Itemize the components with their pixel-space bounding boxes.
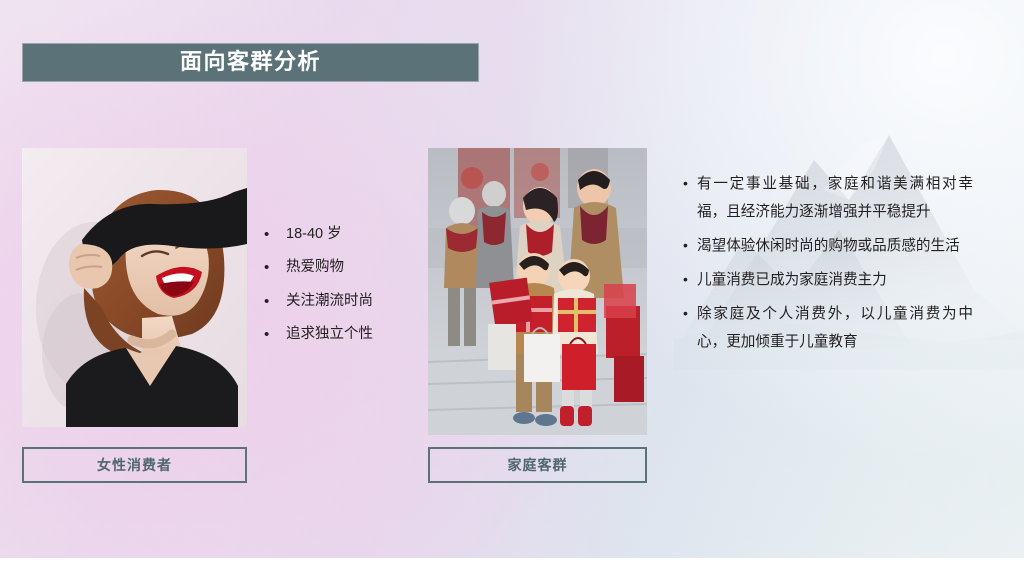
bullet-list-family-group: • 有一定事业基础，家庭和谐美满相对幸福，且经济能力逐渐增强并平稳提升 • 渴望… bbox=[683, 170, 973, 362]
page-title-bar: 面向客群分析 bbox=[22, 43, 479, 82]
list-item-text: 热爱购物 bbox=[286, 258, 344, 278]
list-item-text: 有一定事业基础，家庭和谐美满相对幸福，且经济能力逐渐增强并平稳提升 bbox=[697, 170, 973, 226]
bullet-dot-icon: • bbox=[264, 225, 286, 245]
bullet-dot-icon: • bbox=[683, 266, 697, 293]
page-title: 面向客群分析 bbox=[180, 51, 321, 74]
bullet-dot-icon: • bbox=[264, 325, 286, 345]
list-item: • 除家庭及个人消费外，以儿童消费为中心，更加倾重于儿童教育 bbox=[683, 300, 973, 356]
photo-female-consumer bbox=[22, 148, 247, 427]
caption-box-female-consumer: 女性消费者 bbox=[22, 447, 247, 483]
list-item-text: 追求独立个性 bbox=[286, 325, 373, 345]
list-item: • 有一定事业基础，家庭和谐美满相对幸福，且经济能力逐渐增强并平稳提升 bbox=[683, 170, 973, 226]
caption-label: 女性消费者 bbox=[97, 458, 172, 472]
list-item: • 儿童消费已成为家庭消费主力 bbox=[683, 266, 973, 294]
list-item-text: 除家庭及个人消费外，以儿童消费为中心，更加倾重于儿童教育 bbox=[697, 300, 973, 356]
photo-family-group bbox=[428, 148, 647, 435]
slide-canvas: 面向客群分析 bbox=[0, 0, 1024, 558]
bullet-dot-icon: • bbox=[264, 292, 286, 312]
bullet-dot-icon: • bbox=[264, 258, 286, 278]
list-item-text: 渴望体验休闲时尚的购物或品质感的生活 bbox=[697, 232, 973, 260]
list-item: • 热爱购物 bbox=[264, 258, 422, 278]
bullet-dot-icon: • bbox=[683, 232, 697, 259]
list-item-text: 18-40 岁 bbox=[286, 225, 342, 245]
list-item: • 关注潮流时尚 bbox=[264, 292, 422, 312]
list-item: • 18-40 岁 bbox=[264, 225, 422, 245]
list-item: • 追求独立个性 bbox=[264, 325, 422, 345]
bullet-dot-icon: • bbox=[683, 300, 697, 327]
bullet-list-female-consumer: • 18-40 岁 • 热爱购物 • 关注潮流时尚 • 追求独立个性 bbox=[264, 225, 422, 358]
list-item-text: 儿童消费已成为家庭消费主力 bbox=[697, 266, 973, 294]
caption-label: 家庭客群 bbox=[508, 458, 568, 472]
list-item: • 渴望体验休闲时尚的购物或品质感的生活 bbox=[683, 232, 973, 260]
list-item-text: 关注潮流时尚 bbox=[286, 292, 373, 312]
caption-box-family-group: 家庭客群 bbox=[428, 447, 647, 483]
bullet-dot-icon: • bbox=[683, 170, 697, 197]
